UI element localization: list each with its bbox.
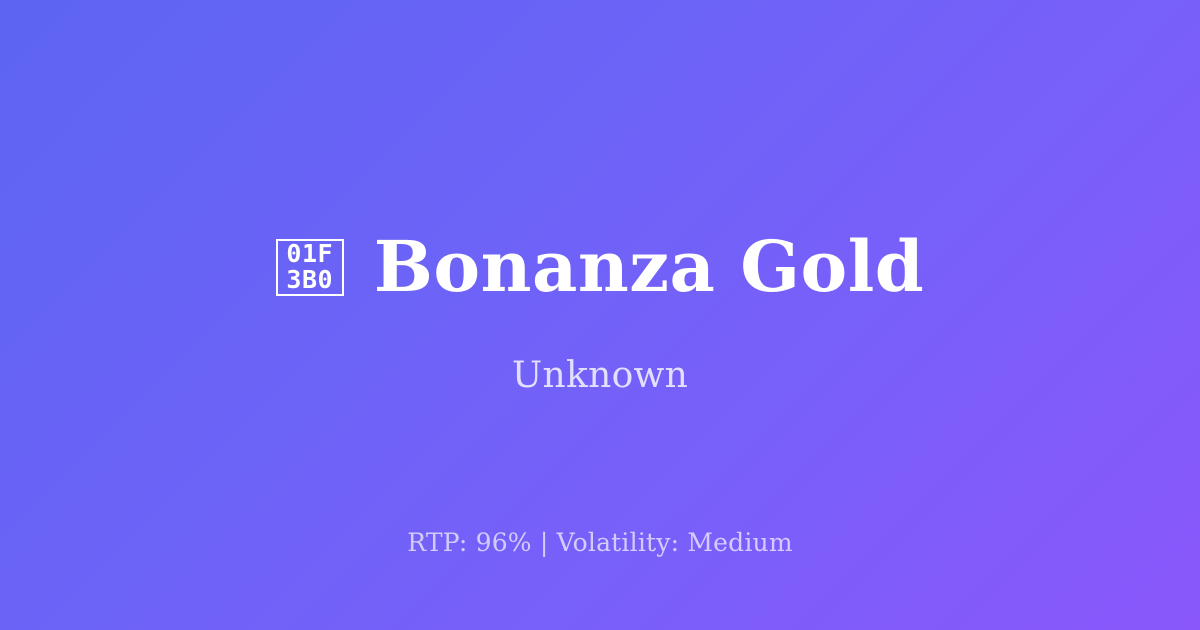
page-title: Bonanza Gold <box>374 232 924 302</box>
slot-machine-icon: 01F 3B0 <box>276 239 344 296</box>
card-content: 01F 3B0 Bonanza Gold Unknown <box>0 232 1200 396</box>
card-subtitle: Unknown <box>512 355 688 396</box>
title-row: 01F 3B0 Bonanza Gold <box>276 232 924 302</box>
tofu-codepoint-top: 01F <box>286 241 333 267</box>
tofu-codepoint-bottom: 3B0 <box>286 267 333 293</box>
og-preview-card: 01F 3B0 Bonanza Gold Unknown RTP: 96% | … <box>0 0 1200 630</box>
game-stats-footer: RTP: 96% | Volatility: Medium <box>0 528 1200 557</box>
